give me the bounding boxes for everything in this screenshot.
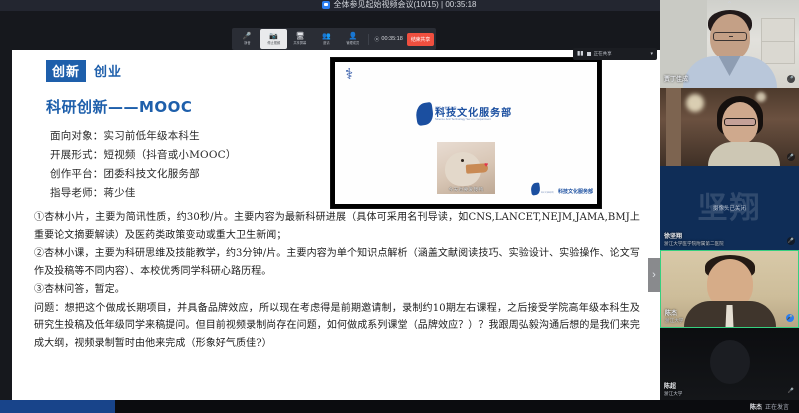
status-bar: 陈杰 正在发言 xyxy=(0,400,799,413)
slide-body: ①杏林小片，主要为简讯性质，约30秒/片。主要内容为最新科研进展（具体可采用名刊… xyxy=(34,209,640,352)
mic-icon[interactable]: 🎤 xyxy=(787,75,795,83)
window-title: 全体参见起始视频会议(10/15) | 00:35:18 xyxy=(333,0,476,10)
participant-tile[interactable]: 坚翔 摄像头已关闭 徐坚翔 浙江大学医学院附属第二医院 🎤 xyxy=(660,166,799,250)
video-feed xyxy=(660,0,799,88)
department-logo-small: 浙江大学医学院 科技文化服务部 xyxy=(531,180,593,198)
meeting-window: 全体参见起始视频会议(10/15) | 00:35:18 ⚙ ⤢ — ▢ 🎤 静… xyxy=(0,0,799,413)
members-icon: 👤 xyxy=(349,33,358,40)
slide-paragraph: ①杏林小片，主要为简讯性质，约30秒/片。主要内容为最新科研进展（具体可采用名刊… xyxy=(34,209,640,244)
participant-tile[interactable]: 🎤 xyxy=(660,88,799,166)
participant-tile[interactable]: ⌃ 贾丁佳成 🎤 xyxy=(660,0,799,88)
logo-swoosh-icon xyxy=(530,182,541,195)
slide-kicker-plain: 创业 xyxy=(94,61,122,80)
toolbar-divider xyxy=(368,34,369,45)
participant-name: 徐坚翔 xyxy=(664,234,724,241)
glasses-icon xyxy=(724,118,756,126)
end-share-button[interactable]: 结束共享 xyxy=(407,33,434,46)
toolbar-button-stop-video[interactable]: 📷 停止视频 xyxy=(260,29,286,49)
participant-name: 陈超 xyxy=(664,384,682,391)
camera-icon: 📷 xyxy=(269,33,278,40)
slide-paragraph: ③杏林问答，暂定。 xyxy=(34,281,640,299)
active-speaker-status: 陈杰 正在发言 xyxy=(750,402,789,411)
slide-next-arrow[interactable]: › xyxy=(648,258,660,292)
logo-sub-text: Science And Technology Service Departmen… xyxy=(435,119,512,121)
participant-tile-active-speaker[interactable]: 陈杰 浙江大学 🎤 xyxy=(660,250,799,328)
active-speaker-label: 正在发言 xyxy=(765,402,789,411)
toolbar-label-manage-members: 管理成员 xyxy=(347,41,360,45)
mic-icon[interactable]: 🎤 xyxy=(787,237,795,245)
duck-caption: 今天也要爱我鸭 xyxy=(437,187,495,193)
toolbar-label-invite: 邀请 xyxy=(323,41,329,45)
share-control-bar[interactable]: ▮▮ 正在共享 ▾ xyxy=(573,48,657,60)
participant-org: 浙江大学医学院附属第二医院 xyxy=(664,241,724,246)
slide-kicker-boxed: 创新 xyxy=(46,60,86,82)
shared-slide[interactable]: 创新 创业 科研创新——MOOC 面向对象：实习前低年级本科生 开展形式：短视频… xyxy=(12,50,660,410)
mic-icon[interactable]: 🎤 xyxy=(787,387,795,395)
logo-main-text-small: 科技文化服务部 xyxy=(558,189,593,195)
heart-icon: ♥ xyxy=(484,163,490,169)
mic-icon[interactable]: 🎤 xyxy=(787,153,795,161)
status-bar-accent xyxy=(0,400,115,413)
toolbar-label-mute: 静音 xyxy=(244,41,250,45)
signal-bars-icon: ▮▮ xyxy=(577,51,584,57)
microphone-icon: 🎤 xyxy=(243,33,252,40)
toolbar-button-share-screen[interactable]: 🖥 共享屏幕 xyxy=(287,29,313,49)
invite-icon: 👥 xyxy=(322,33,331,40)
toolbar-label-share-screen: 共享屏幕 xyxy=(294,41,307,45)
duck-photo: ♥ 今天也要爱我鸭 xyxy=(437,142,495,194)
participant-org: 浙江大学 xyxy=(664,391,682,396)
embedded-video[interactable]: ⚕ 浙江大学医学院 科技文化服务部 Science And Technology… xyxy=(330,57,602,209)
toolbar-label-stop-video: 停止视频 xyxy=(267,41,280,45)
screen-share-icon: 🖥 xyxy=(296,33,305,40)
toolbar-button-manage-members[interactable]: 👤 管理成员 xyxy=(340,29,366,49)
chevron-up-icon[interactable]: ⌃ xyxy=(726,1,733,9)
recording-icon: ⦿ xyxy=(374,36,379,43)
participant-org: 浙江大学 xyxy=(665,318,683,323)
participant-name: 陈杰 xyxy=(665,311,683,318)
timer-value: 00:35:18 xyxy=(381,36,402,42)
toolbar-button-invite[interactable]: 👥 邀请 xyxy=(313,29,339,49)
slide-paragraph: ②杏林小课，主要为科研思维及技能教学，约3分钟/片。主要内容为单个知识点解析（涵… xyxy=(34,245,640,280)
chevron-down-icon[interactable]: ▾ xyxy=(650,51,653,57)
share-control-label: 正在共享 xyxy=(594,51,648,57)
caduceus-icon: ⚕ xyxy=(341,66,357,84)
logo-swoosh-icon xyxy=(415,102,435,126)
meeting-logo-icon xyxy=(322,1,330,9)
active-speaker-name: 陈杰 xyxy=(750,402,762,411)
meeting-toolbar: 🎤 静音 📷 停止视频 🖥 共享屏幕 👥 邀请 👤 管理成员 ⦿ 00:35:1… xyxy=(232,28,436,50)
slide-paragraph: 问题：想把这个做成长期项目，并具备品牌效应，所以现在考虑得是前期邀请制，录制约1… xyxy=(34,300,640,353)
logo-sub-text-small: 浙江大学医学院 xyxy=(541,192,554,194)
participant-name: 贾丁佳成 xyxy=(664,77,688,84)
participants-rail: ⌃ 贾丁佳成 🎤 🎤 坚翔 摄像头已关闭 徐坚翔 xyxy=(660,0,799,400)
stop-square-icon[interactable] xyxy=(587,52,591,56)
department-logo: 浙江大学医学院 科技文化服务部 Science And Technology S… xyxy=(416,103,512,125)
glasses-icon xyxy=(713,32,747,41)
participant-tile[interactable]: 陈超 浙江大学 🎤 xyxy=(660,328,799,400)
toolbar-button-mute[interactable]: 🎤 静音 xyxy=(234,29,260,49)
video-feed xyxy=(660,88,799,166)
camera-off-message: 摄像头已关闭 xyxy=(713,204,746,212)
mic-icon[interactable]: 🎤 xyxy=(786,314,794,322)
meeting-timer: ⦿ 00:35:18 xyxy=(374,36,402,43)
